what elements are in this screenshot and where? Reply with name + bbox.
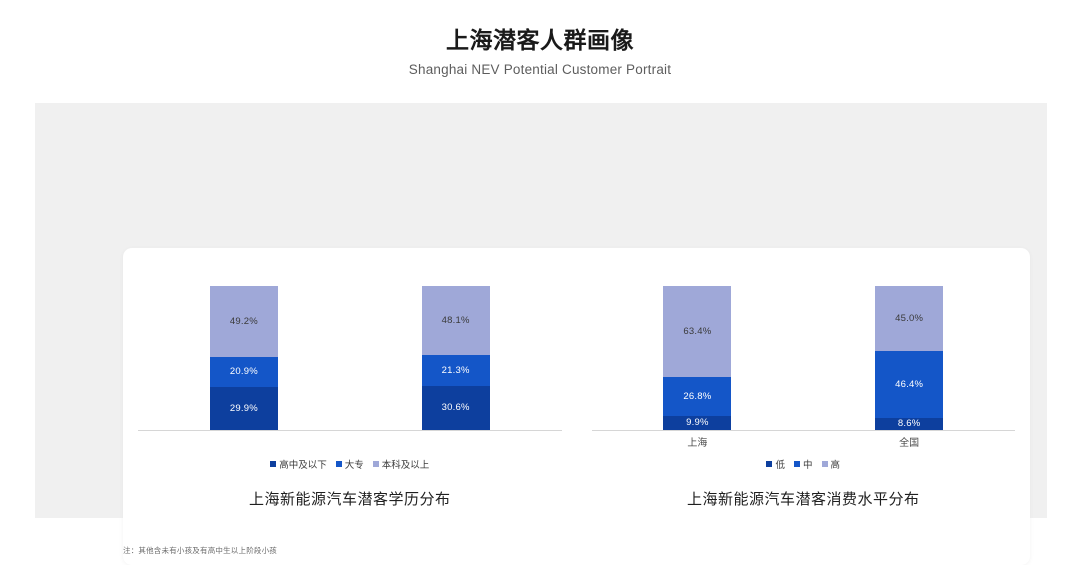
legend-label: 本科及以上 <box>382 457 430 471</box>
charts-row: 49.2%20.9%29.9%48.1%21.3%30.6% 高中及以下大专本科… <box>123 248 1030 518</box>
bar-group-consumption: 63.4%26.8%9.9%45.0%46.4%8.6% <box>592 286 1016 430</box>
axis-line-consumption <box>592 430 1016 431</box>
bar-stack: 45.0%46.4%8.6% <box>875 286 943 430</box>
bar-segment: 9.9% <box>663 416 731 430</box>
legend-item[interactable]: 本科及以上 <box>373 457 430 471</box>
bar-stack: 49.2%20.9%29.9% <box>210 286 278 430</box>
bar-segment: 63.4% <box>663 286 731 377</box>
bar-column: 49.2%20.9%29.9% <box>181 286 307 430</box>
bar-segment: 30.6% <box>422 386 490 430</box>
chart-caption-education: 上海新能源汽车潜客学历分布 <box>123 488 577 509</box>
bar-segment: 8.6% <box>875 418 943 430</box>
bar-segment: 46.4% <box>875 351 943 418</box>
legend-item[interactable]: 中 <box>794 457 813 471</box>
legend-swatch-icon <box>822 461 828 467</box>
category-labels-education <box>138 434 562 452</box>
chart-education-distribution: 49.2%20.9%29.9%48.1%21.3%30.6% 高中及以下大专本科… <box>123 248 577 518</box>
bar-segment: 26.8% <box>663 377 731 416</box>
plot-area-consumption: 63.4%26.8%9.9%45.0%46.4%8.6% <box>592 286 1016 430</box>
chart-card: 49.2%20.9%29.9%48.1%21.3%30.6% 高中及以下大专本科… <box>123 248 1030 565</box>
chart-caption-consumption: 上海新能源汽车潜客消费水平分布 <box>577 488 1031 509</box>
bar-group-education: 49.2%20.9%29.9%48.1%21.3%30.6% <box>138 286 562 430</box>
chart-consumption-distribution: 63.4%26.8%9.9%45.0%46.4%8.6% 上海全国 低中高 上海… <box>577 248 1031 518</box>
legend-label: 高 <box>831 457 841 471</box>
category-label <box>181 434 307 452</box>
legend-swatch-icon <box>794 461 800 467</box>
legend-item[interactable]: 高 <box>822 457 841 471</box>
legend-label: 大专 <box>345 457 364 471</box>
bar-column: 63.4%26.8%9.9% <box>634 286 760 430</box>
bar-column: 45.0%46.4%8.6% <box>846 286 972 430</box>
page-subtitle: Shanghai NEV Potential Customer Portrait <box>0 55 1080 77</box>
bar-stack: 63.4%26.8%9.9% <box>663 286 731 430</box>
bar-segment: 29.9% <box>210 387 278 430</box>
legend-item[interactable]: 大专 <box>336 457 364 471</box>
bar-segment: 21.3% <box>422 355 490 386</box>
legend-swatch-icon <box>373 461 379 467</box>
page-title: 上海潜客人群画像 <box>0 0 1080 55</box>
legend-consumption: 低中高 <box>577 457 1031 471</box>
legend-item[interactable]: 高中及以下 <box>270 457 327 471</box>
category-label: 全国 <box>846 434 972 452</box>
legend-education: 高中及以下大专本科及以上 <box>123 457 577 471</box>
legend-item[interactable]: 低 <box>766 457 785 471</box>
gray-background-panel: 49.2%20.9%29.9%48.1%21.3%30.6% 高中及以下大专本科… <box>35 103 1047 518</box>
category-label: 上海 <box>634 434 760 452</box>
legend-swatch-icon <box>766 461 772 467</box>
category-label <box>393 434 519 452</box>
legend-swatch-icon <box>336 461 342 467</box>
bar-segment: 48.1% <box>422 286 490 355</box>
bar-segment: 20.9% <box>210 357 278 387</box>
bar-segment: 45.0% <box>875 286 943 351</box>
axis-line-education <box>138 430 562 431</box>
plot-area-education: 49.2%20.9%29.9%48.1%21.3%30.6% <box>138 286 562 430</box>
legend-label: 中 <box>803 457 813 471</box>
bar-stack: 48.1%21.3%30.6% <box>422 286 490 430</box>
page-header: 上海潜客人群画像 Shanghai NEV Potential Customer… <box>0 0 1080 77</box>
legend-swatch-icon <box>270 461 276 467</box>
legend-label: 高中及以下 <box>279 457 327 471</box>
bar-segment: 49.2% <box>210 286 278 357</box>
legend-label: 低 <box>775 457 785 471</box>
category-labels-consumption: 上海全国 <box>592 434 1016 452</box>
bar-column: 48.1%21.3%30.6% <box>393 286 519 430</box>
